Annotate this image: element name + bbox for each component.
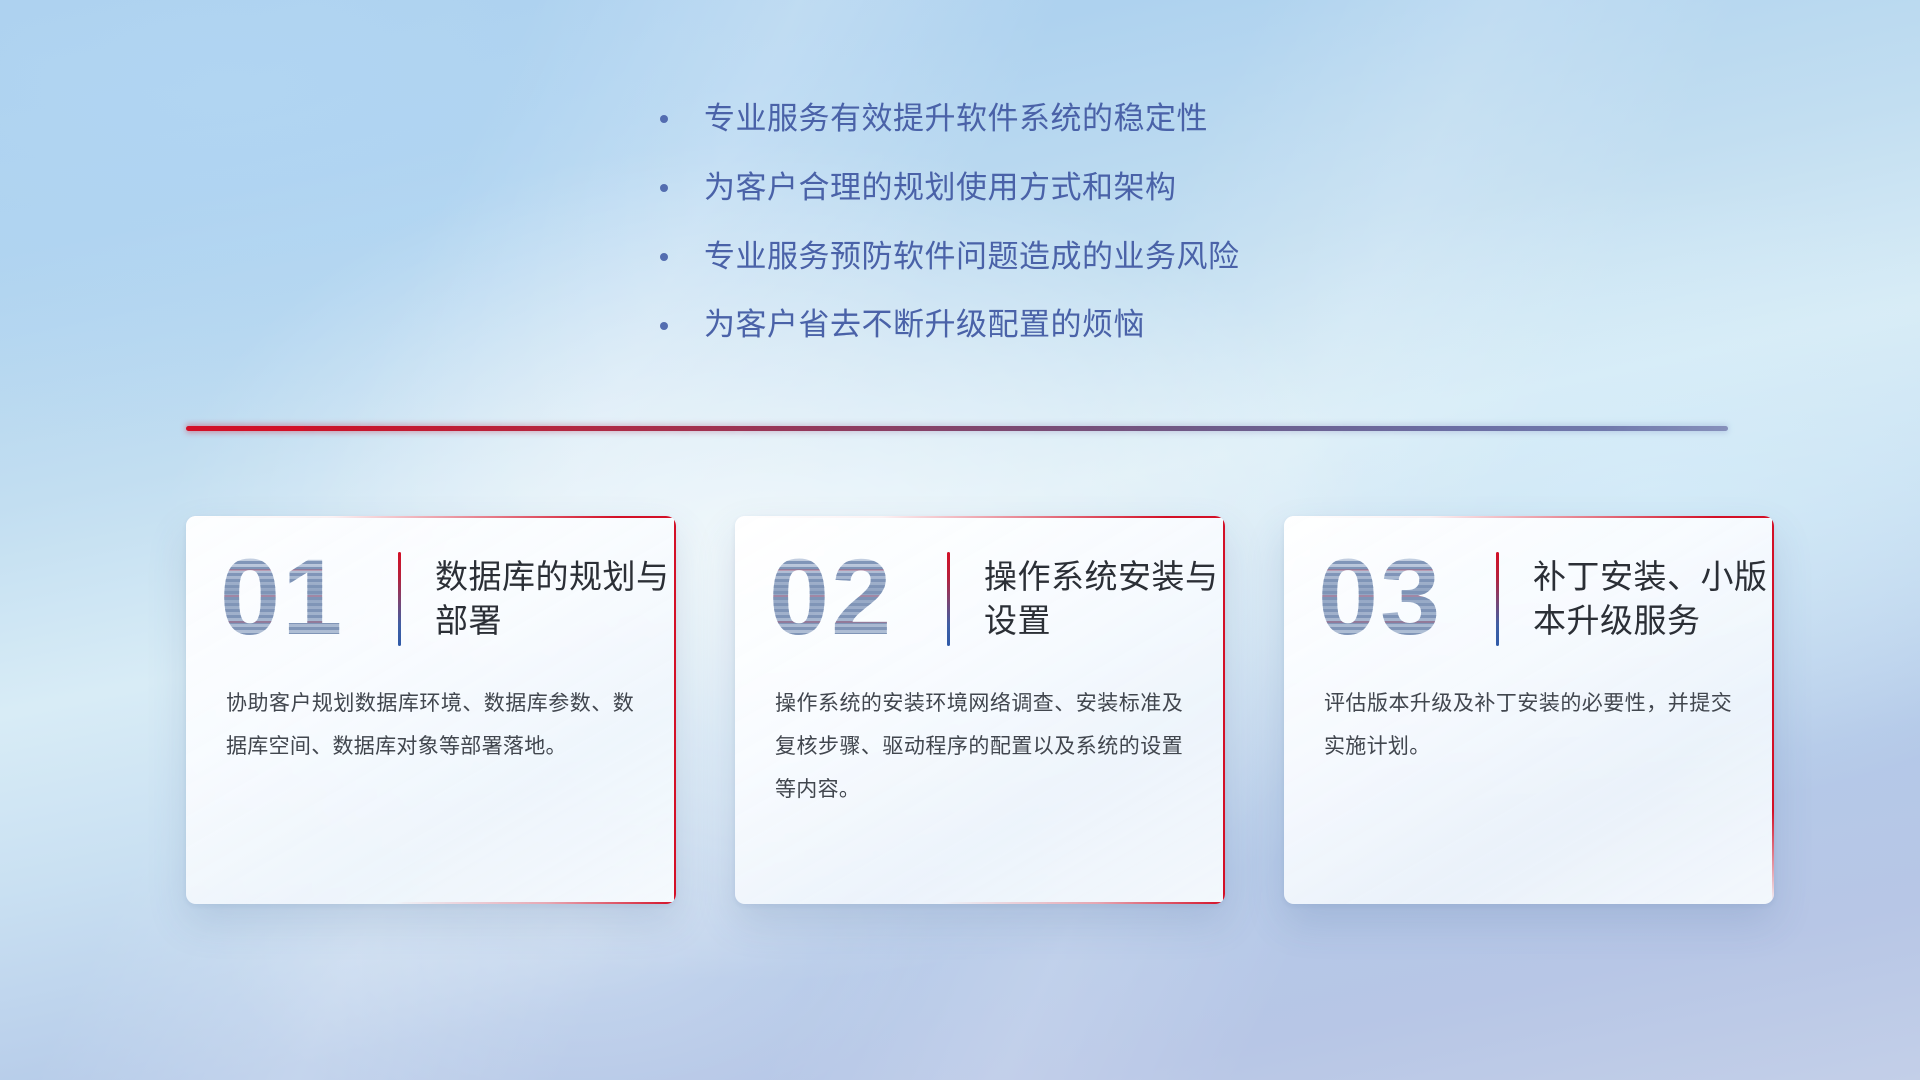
card-description: 操作系统的安装环境网络调查、安装标准及复核步骤、驱动程序的配置以及系统的设置等内… <box>735 682 1225 811</box>
bullet-text: 为客户合理的规划使用方式和架构 <box>704 169 1177 208</box>
divider-bar <box>186 426 1728 431</box>
list-item: 专业服务预防软件问题造成的业务风险 <box>660 238 1240 277</box>
list-item: 为客户省去不断升级配置的烦恼 <box>660 306 1240 345</box>
service-card[interactable]: 01 数据库的规划与部署 协助客户规划数据库环境、数据库参数、数据库空间、数据库… <box>186 516 676 904</box>
card-header: 02 操作系统安装与设置 <box>735 516 1225 682</box>
service-card[interactable]: 02 操作系统安装与设置 操作系统的安装环境网络调查、安装标准及复核步骤、驱动程… <box>735 516 1225 904</box>
card-header: 01 数据库的规划与部署 <box>186 516 676 682</box>
card-title: 补丁安装、小版本升级服务 <box>1533 555 1773 643</box>
section-divider <box>186 424 1728 433</box>
card-header: 03 补丁安装、小版本升级服务 <box>1284 516 1774 682</box>
bullet-dot-icon <box>660 322 668 330</box>
bullet-text: 专业服务有效提升软件系统的稳定性 <box>704 100 1208 139</box>
card-description: 协助客户规划数据库环境、数据库参数、数据库空间、数据库对象等部署落地。 <box>186 682 676 768</box>
service-card-group: 01 数据库的规划与部署 协助客户规划数据库环境、数据库参数、数据库空间、数据库… <box>186 516 1774 904</box>
bullet-text: 专业服务预防软件问题造成的业务风险 <box>704 238 1240 277</box>
service-card[interactable]: 03 补丁安装、小版本升级服务 评估版本升级及补丁安装的必要性，并提交实施计划。 <box>1284 516 1774 904</box>
card-title: 数据库的规划与部署 <box>435 555 675 643</box>
card-accent-edge-bottom <box>735 902 1225 904</box>
bullet-dot-icon <box>660 115 668 123</box>
list-item: 为客户合理的规划使用方式和架构 <box>660 169 1240 208</box>
bullet-text: 为客户省去不断升级配置的烦恼 <box>704 306 1145 345</box>
list-item: 专业服务有效提升软件系统的稳定性 <box>660 100 1240 139</box>
card-number-watermark: 03 <box>1318 543 1494 651</box>
bullet-dot-icon <box>660 253 668 261</box>
card-accent-edge-bottom <box>186 902 676 904</box>
card-title: 操作系统安装与设置 <box>984 555 1224 643</box>
bullet-dot-icon <box>660 184 668 192</box>
card-divider-rule <box>1496 552 1499 646</box>
card-divider-rule <box>398 552 401 646</box>
card-number-watermark: 01 <box>220 543 396 651</box>
card-description: 评估版本升级及补丁安装的必要性，并提交实施计划。 <box>1284 682 1774 768</box>
card-divider-rule <box>947 552 950 646</box>
card-number-watermark: 02 <box>769 543 945 651</box>
benefits-bullet-list: 专业服务有效提升软件系统的稳定性 为客户合理的规划使用方式和架构 专业服务预防软… <box>660 100 1240 345</box>
slide-canvas: 专业服务有效提升软件系统的稳定性 为客户合理的规划使用方式和架构 专业服务预防软… <box>0 0 1920 1080</box>
